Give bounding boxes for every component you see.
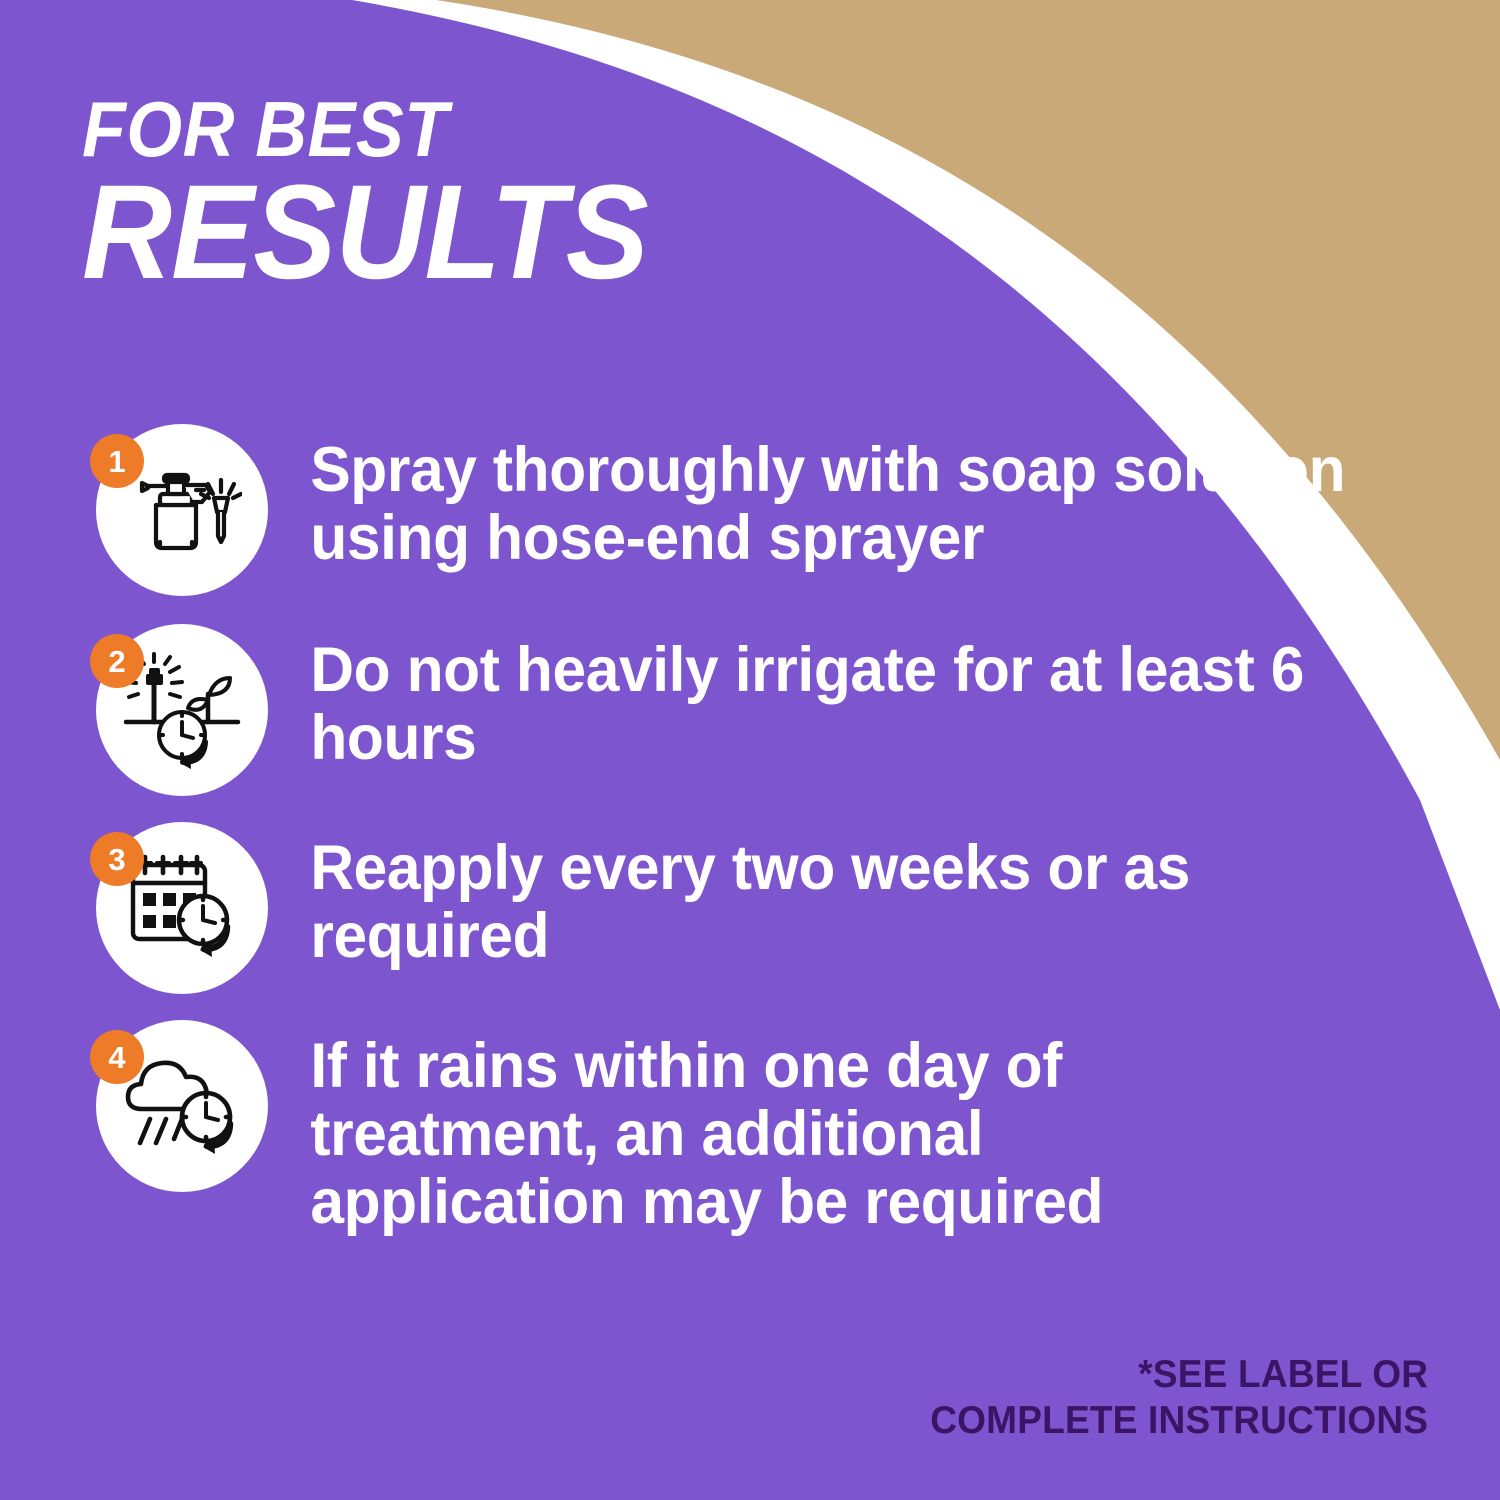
step-text: If it rains within one day of treatment,… (270, 1020, 1261, 1236)
step-2-icon-container: 2 (88, 624, 270, 796)
title-line-1: FOR BEST (82, 92, 642, 167)
step-text: Do not heavily irrigate for at least 6 h… (270, 624, 1401, 772)
list-item: 2 (88, 624, 1448, 796)
step-text: Spray thoroughly with soap solution usin… (270, 424, 1386, 572)
step-number-badge: 2 (90, 634, 144, 688)
for-best-results-poster: FOR BEST RESULTS 1 (0, 0, 1500, 1500)
footnote-line-1: *SEE LABEL OR (930, 1352, 1428, 1398)
step-number-badge: 3 (90, 832, 144, 886)
list-item: 3 (88, 822, 1448, 994)
steps-list: 1 (88, 424, 1448, 1254)
step-1-icon-container: 1 (88, 424, 270, 596)
title-line-2: RESULTS (82, 169, 648, 296)
step-4-icon-container: 4 (88, 1020, 270, 1192)
list-item: 1 (88, 424, 1448, 596)
step-number-badge: 4 (90, 1030, 144, 1084)
poster-content: FOR BEST RESULTS 1 (0, 0, 1500, 1500)
step-text: Reapply every two weeks or as required (270, 822, 1357, 970)
step-number-badge: 1 (90, 434, 144, 488)
list-item: 4 (88, 1020, 1448, 1236)
page-title: FOR BEST RESULTS (82, 92, 690, 296)
footnote: *SEE LABEL OR COMPLETE INSTRUCTIONS (930, 1352, 1428, 1444)
step-3-icon-container: 3 (88, 822, 270, 994)
footnote-line-2: COMPLETE INSTRUCTIONS (930, 1398, 1428, 1444)
